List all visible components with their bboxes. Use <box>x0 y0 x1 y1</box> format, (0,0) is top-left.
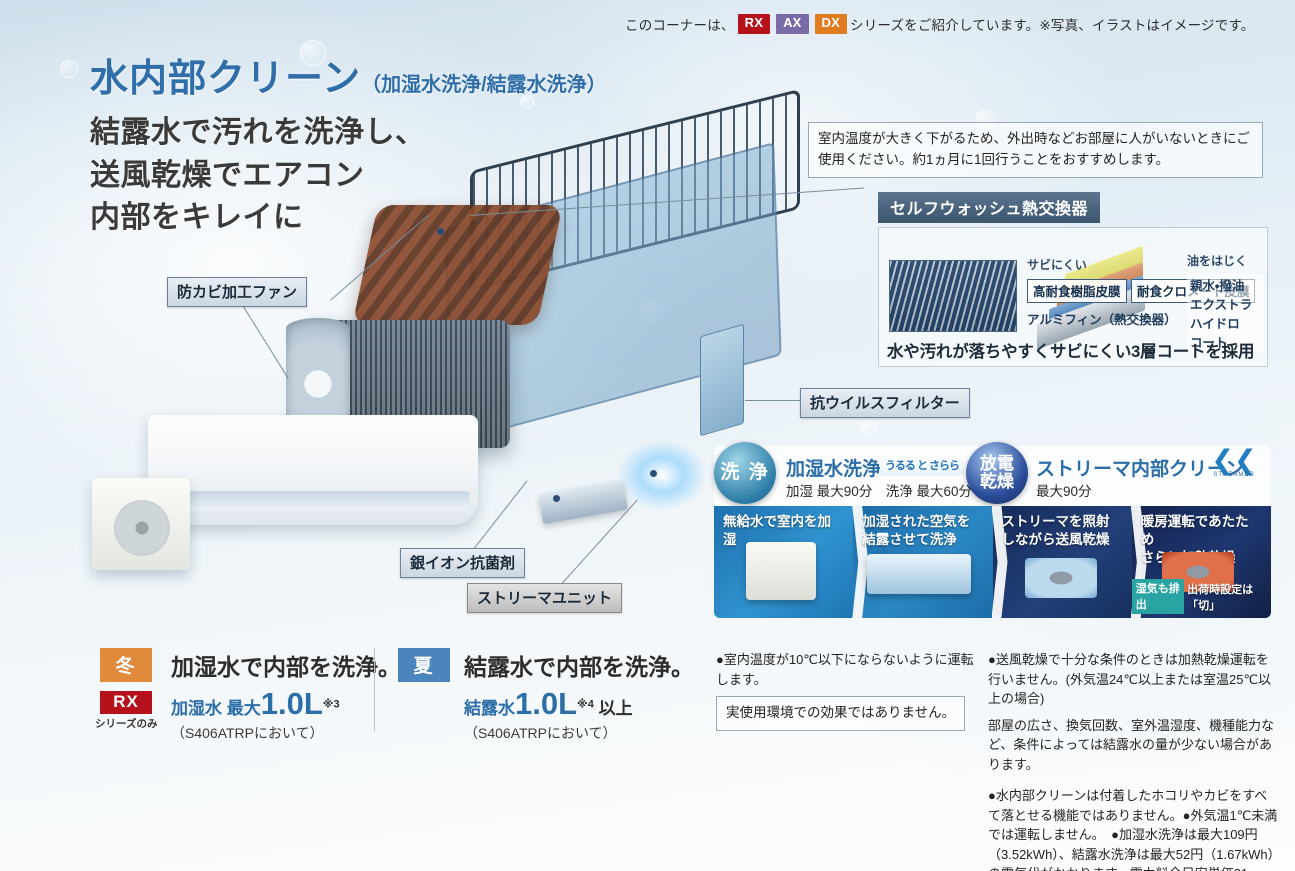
summer-paren: （S406ATRPにおいて） <box>464 723 694 743</box>
series-badge-ax: AX <box>776 14 808 34</box>
process-step: 加湿された空気を 結露させて洗浄 <box>853 506 992 618</box>
footnote-left-box-text: 実使用環境での効果ではありません。 <box>726 705 955 720</box>
process-step: 暖房運転であたため さらに加熱乾燥 湿気も排出 出荷時設定は「切」 <box>1132 506 1271 618</box>
usage-note-box: 室内温度が大きく下がるため、外出時などお部屋に人がいないときにご使用ください。約… <box>808 122 1263 178</box>
lede-line-1: 結露水で汚れを洗浄し、 <box>90 112 426 155</box>
process-header: 洗 浄 加湿水洗浄 うるる と さらら 加湿 最大90分 洗浄 最大60分 放電… <box>714 446 1271 506</box>
winter-rx-tag: RX <box>100 691 152 714</box>
series-header: このコーナーは、 RX AX DX シリーズをご紹介しています。※写真、イラスト… <box>625 14 1255 34</box>
filter-panel-art <box>700 324 744 437</box>
footnote-right-p2: 部屋の広さ、換気回数、室外温湿度、機種能力など、条件によっては結露水の量が少ない… <box>988 716 1278 775</box>
page-title-sub: （加湿水洗浄/結露水洗浄） <box>361 74 607 96</box>
self-wash-title: セルフウォッシュ熱交換器 <box>878 192 1100 223</box>
dry-sub: 最大90分 <box>1036 480 1092 500</box>
footnote-right-p3: ●水内部クリーンは付着したホコリやカビをすべて落とせる機能ではありません。●外気… <box>988 786 1278 871</box>
self-wash-right-caption: 油をはじく <box>1187 252 1263 269</box>
callout-silver-ion: 銀イオン抗菌剤 <box>400 548 525 578</box>
fan-cool-mini-art <box>1025 558 1097 598</box>
wash-title: 加湿水洗浄 <box>786 454 881 481</box>
streamer-glow-art <box>618 440 706 510</box>
self-wash-footer: 水や汚れが落ちやすくサビにくい3層コートを採用 <box>887 338 1254 362</box>
page-title-main: 水内部クリーン <box>90 58 361 100</box>
exhaust-badge-group: 湿気も排出 出荷時設定は「切」 <box>1132 579 1267 614</box>
summer-sup: ※4 <box>577 698 594 710</box>
lede-line-2: 送風乾燥でエアコン <box>90 155 426 198</box>
outdoor-unit-art <box>92 478 190 570</box>
callout-label: ストリーマユニット <box>477 590 612 607</box>
process-step: 無給水で室内を加湿 <box>714 506 853 618</box>
right-label-line-1: 親水・撥油 <box>1190 275 1260 294</box>
right-label-line-2: エクストラ <box>1190 294 1260 313</box>
streamer-mark-icon: ❮❮ <box>1203 450 1265 472</box>
callout-label: 防カビ加工ファン <box>177 284 297 301</box>
summer-suffix: 以上 <box>594 699 633 718</box>
process-steps: 無給水で室内を加湿 加湿された空気を 結露させて洗浄 ストリーマを照射 しながら… <box>714 506 1271 618</box>
winter-rx-note: シリーズのみ <box>95 716 157 731</box>
winter-head: 加湿水で内部を洗浄。 <box>171 648 401 682</box>
summer-head: 結露水で内部を洗浄。 <box>464 648 694 682</box>
winter-paren: （S406ATRPにおいて） <box>171 723 401 743</box>
step-4-line-1: 暖房運転であたため <box>1141 513 1262 549</box>
leader-line <box>470 481 527 554</box>
summer-badge: 夏 <box>398 648 450 682</box>
exhaust-note: 出荷時設定は「切」 <box>1187 581 1267 613</box>
self-wash-body: サビにくい 高耐食樹脂皮膜 耐食クロメート皮膜 アルミフィン（熱交換器） 油をは… <box>878 227 1268 367</box>
winter-value: 1.0L <box>261 686 323 721</box>
callout-anti-mold-fan: 防カビ加工ファン <box>167 277 307 307</box>
flap-blade-art <box>538 480 628 524</box>
page-title: 水内部クリーン（加湿水洗浄/結露水洗浄） <box>90 47 607 102</box>
leader-dot <box>437 228 444 235</box>
winter-prefix: 加湿水 最大 <box>171 699 261 718</box>
bubble-decoration <box>860 420 876 436</box>
urara-sarara-logo-text: うるる と さらら <box>885 457 959 473</box>
process-step: ストリーマを照射 しながら送風乾燥 <box>993 506 1132 618</box>
badge-dry-circle: 放電 乾燥 <box>966 442 1028 504</box>
leader-line <box>745 400 800 401</box>
self-wash-panel: セルフウォッシュ熱交換器 サビにくい 高耐食樹脂皮膜 耐食クロメート皮膜 アルミ… <box>878 192 1268 367</box>
series-badge-dx: DX <box>815 14 847 34</box>
indoor-unit-art <box>148 415 478 525</box>
page-root: このコーナーは、 RX AX DX シリーズをご紹介しています。※写真、イラスト… <box>0 0 1295 871</box>
wash-sub: 加湿 最大90分 洗浄 最大60分 <box>786 480 972 500</box>
badge-dry-line-1: 放電 <box>980 455 1014 473</box>
streamer-logo: ❮❮ STREAMER <box>1203 450 1265 478</box>
urara-sarara-logo: うるる と さらら <box>880 454 964 476</box>
indoor-unit-mini-art <box>867 554 971 594</box>
aluminum-fin-photo <box>889 260 1017 332</box>
summer-prefix: 結露水 <box>464 699 515 718</box>
right-label-line-3: ハイドロ <box>1190 313 1260 332</box>
winter-value-line: 加湿水 最大1.0L※3 <box>171 686 401 722</box>
footnote-right: ●送風乾燥で十分な条件のときは加熱乾燥運転を行いません。(外気温24℃以上または… <box>988 650 1278 871</box>
summer-value-line: 結露水1.0L※4 以上 <box>464 686 694 722</box>
season-summer: 夏 結露水で内部を洗浄。 結露水1.0L※4 以上 （S406ATRPにおいて） <box>398 648 694 743</box>
series-badge-rx: RX <box>738 14 770 34</box>
step-2-line-1: 加湿された空気を <box>862 513 983 531</box>
badge-wash-label: 洗 浄 <box>720 463 769 483</box>
callout-antiviral-filter: 抗ウイルスフィルター <box>800 388 970 418</box>
callout-label: 抗ウイルスフィルター <box>810 395 960 412</box>
season-divider <box>374 648 375 732</box>
process-panel: 洗 浄 加湿水洗浄 うるる と さらら 加湿 最大90分 洗浄 最大60分 放電… <box>714 446 1271 618</box>
season-winter: 冬 RX シリーズのみ 加湿水で内部を洗浄。 加湿水 最大1.0L※3 （S40… <box>100 648 401 743</box>
exhaust-badge: 湿気も排出 <box>1132 579 1184 614</box>
callout-label: 銀イオン抗菌剤 <box>410 555 515 572</box>
step-2-line-2: 結露させて洗浄 <box>862 531 983 549</box>
step-3-line-1: ストリーマを照射 <box>1002 513 1123 531</box>
winter-badge: 冬 <box>100 648 152 682</box>
callout-streamer-unit: ストリーマユニット <box>467 583 622 613</box>
footnote-left-box: 実使用環境での効果ではありません。 <box>716 696 965 731</box>
layer-label-resin: 高耐食樹脂皮膜 <box>1027 279 1127 303</box>
footnote-left: ●室内温度が10℃以下にならないように運転します。 実使用環境での効果ではありま… <box>716 650 978 731</box>
bubble-decoration <box>60 60 78 78</box>
self-wash-right-block: 油をはじく 親水・撥油 エクストラ ハイドロ コート <box>1187 252 1263 352</box>
leader-line <box>242 305 288 378</box>
winter-badge-group: 冬 RX シリーズのみ <box>100 648 157 731</box>
leader-dot <box>650 470 657 477</box>
badge-dry-line-2: 乾燥 <box>980 473 1014 491</box>
footnote-right-p1: ●送風乾燥で十分な条件のときは加熱乾燥運転を行いません。(外気温24℃以上または… <box>988 650 1278 709</box>
usage-note-text: 室内温度が大きく下がるため、外出時などお部屋に人がいないときにご使用ください。約… <box>818 131 1250 167</box>
copper-coil-art <box>352 205 563 325</box>
footnote-left-bullet: ●室内温度が10℃以下にならないように運転します。 <box>716 650 978 689</box>
outdoor-unit-mini-art <box>746 542 816 600</box>
header-suffix: シリーズをご紹介しています。※写真、イラストはイメージです。 <box>850 14 1255 34</box>
badge-wash-circle: 洗 浄 <box>714 442 776 504</box>
leader-dot <box>553 495 560 502</box>
winter-sup: ※3 <box>323 698 340 710</box>
summer-value: 1.0L <box>515 686 577 721</box>
step-3-line-2: しながら送風乾燥 <box>1002 531 1123 549</box>
header-prefix: このコーナーは、 <box>625 14 735 34</box>
